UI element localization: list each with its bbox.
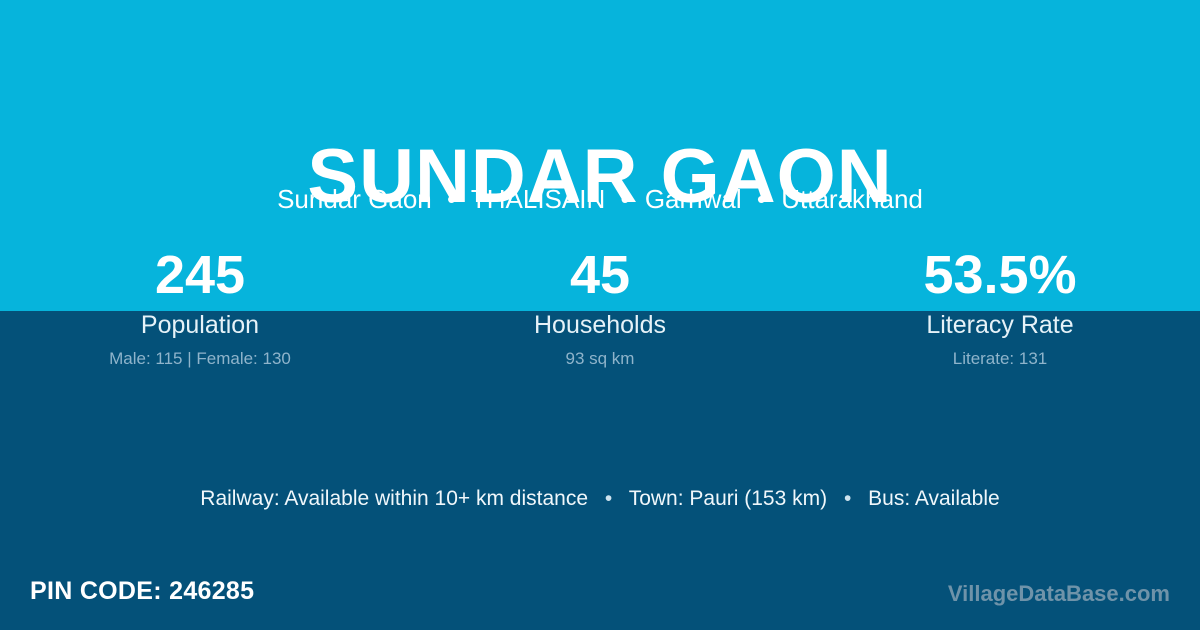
stat-literacy-rate-label: Literacy Rate <box>800 311 1200 340</box>
stat-population-sub: Male: 115 | Female: 130 <box>0 349 400 369</box>
village-info-card: SUNDAR GAON Sundar Gaon • THALISAIN • Ga… <box>0 0 1200 630</box>
stat-households-sub: 93 sq km <box>400 349 800 369</box>
site-brand-label: VillageDataBase.com <box>948 580 1170 607</box>
stat-population: 245 Population Male: 115 | Female: 130 <box>0 244 400 369</box>
breadcrumb-item-state: Uttarakhand <box>781 184 923 214</box>
stat-households-value: 45 <box>400 244 800 306</box>
pin-code-label: PIN CODE: 246285 <box>30 576 254 606</box>
breadcrumb-separator: • <box>439 184 464 214</box>
stat-literacy-rate-value: 53.5% <box>800 244 1200 306</box>
transport-info-line: Railway: Available within 10+ km distanc… <box>0 486 1200 512</box>
breadcrumb: Sundar Gaon • THALISAIN • Garhwal • Utta… <box>0 183 1200 215</box>
breadcrumb-item-block: THALISAIN <box>471 184 605 214</box>
stat-population-value: 245 <box>0 244 400 306</box>
stats-row: 245 Population Male: 115 | Female: 130 4… <box>0 244 1200 369</box>
stat-population-label: Population <box>0 311 400 340</box>
transport-railway: Railway: Available within 10+ km distanc… <box>200 487 588 510</box>
stat-literacy-rate-sub: Literate: 131 <box>800 349 1200 369</box>
stat-households: 45 Households 93 sq km <box>400 244 800 369</box>
stat-literacy-rate: 53.5% Literacy Rate Literate: 131 <box>800 244 1200 369</box>
breadcrumb-separator: • <box>749 184 774 214</box>
breadcrumb-item-village: Sundar Gaon <box>277 184 432 214</box>
breadcrumb-item-district: Garhwal <box>645 184 742 214</box>
transport-town: Town: Pauri (153 km) <box>629 487 827 510</box>
stat-households-label: Households <box>400 311 800 340</box>
transport-separator: • <box>833 487 862 510</box>
transport-bus: Bus: Available <box>868 487 1000 510</box>
transport-separator: • <box>594 487 623 510</box>
breadcrumb-separator: • <box>612 184 637 214</box>
